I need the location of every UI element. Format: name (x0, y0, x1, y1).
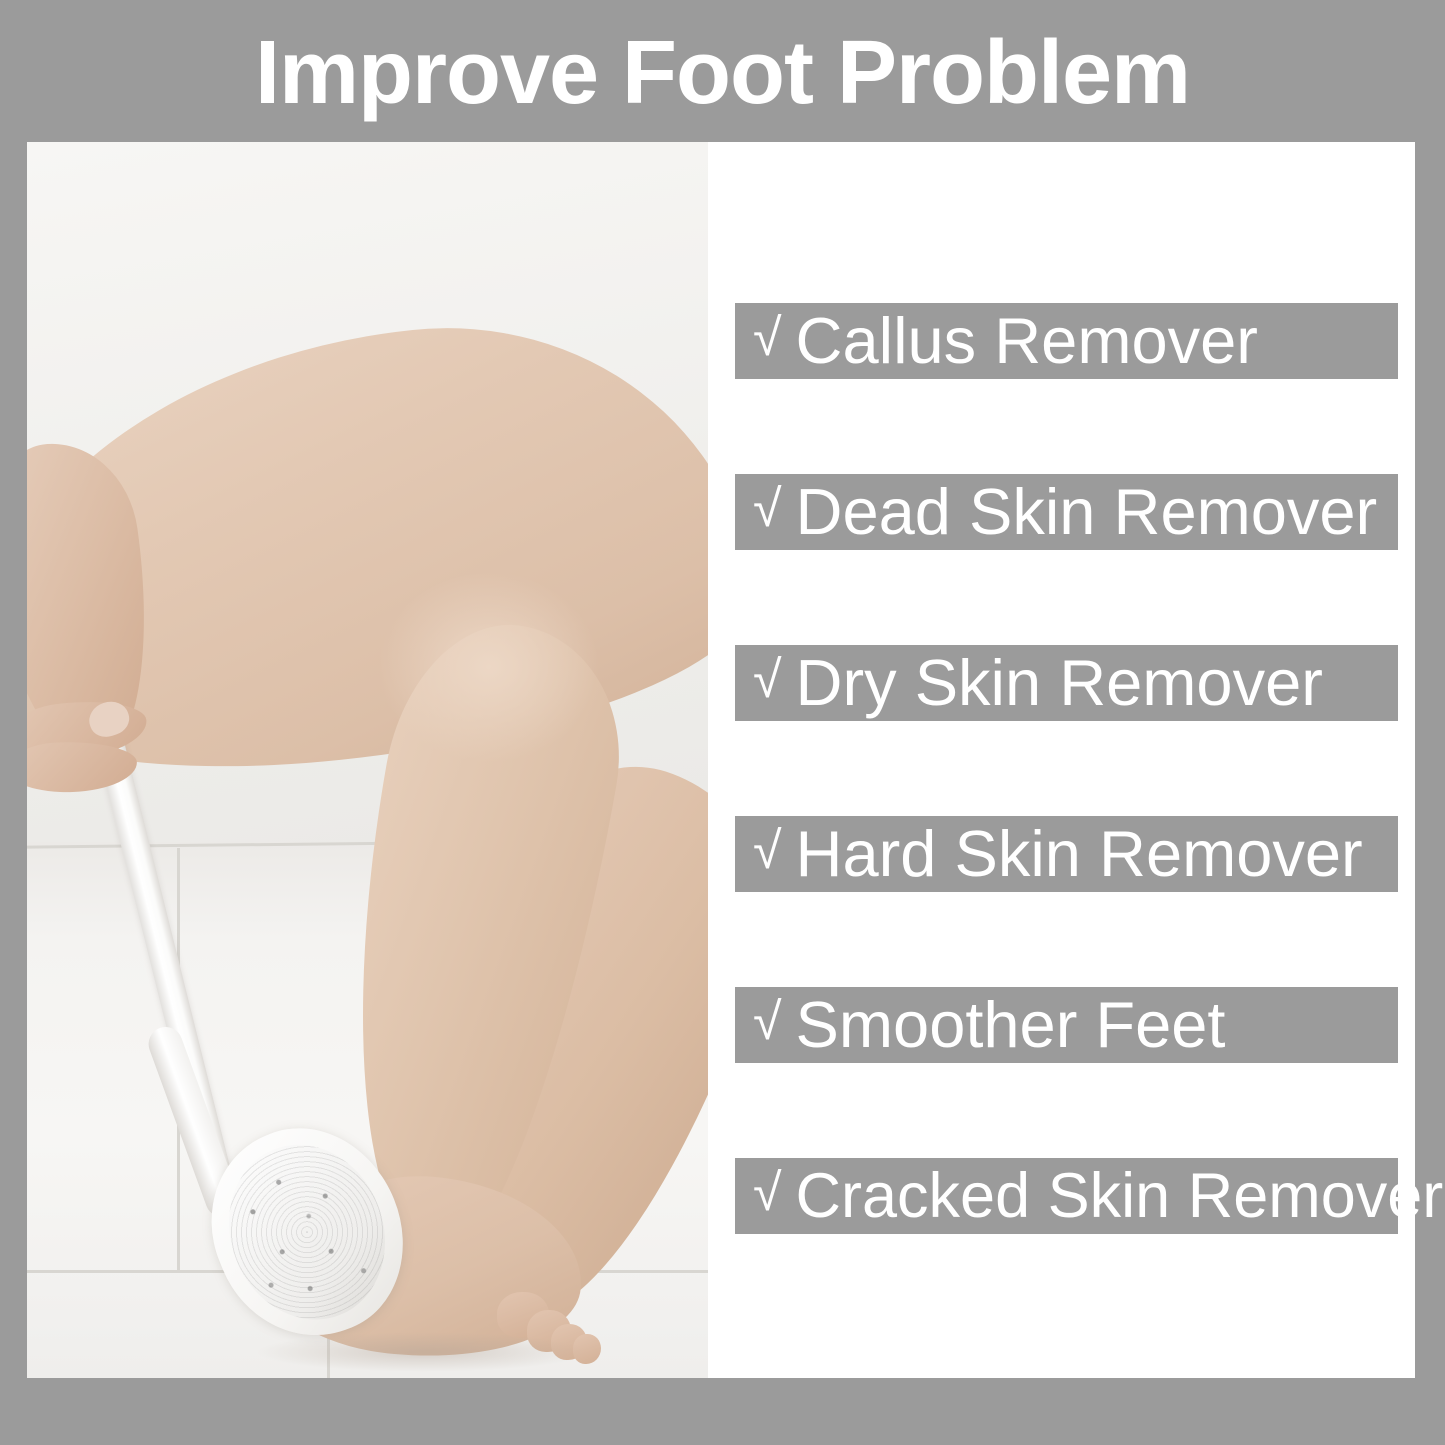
check-icon: √ (753, 1167, 782, 1219)
check-icon: √ (753, 312, 782, 364)
check-icon: √ (753, 483, 782, 535)
product-feature-graphic: Improve Foot Problem (0, 0, 1445, 1445)
feature-label: Smoother Feet (796, 987, 1226, 1063)
check-icon: √ (753, 825, 782, 877)
feature-item-smoother-feet: √ Smoother Feet (735, 987, 1398, 1063)
foot-shadow (257, 1332, 587, 1372)
product-usage-photo (27, 142, 708, 1378)
feature-item-dead-skin-remover: √ Dead Skin Remover (735, 474, 1398, 550)
knee-highlight (379, 572, 599, 762)
feature-item-hard-skin-remover: √ Hard Skin Remover (735, 816, 1398, 892)
feature-label: Dry Skin Remover (796, 645, 1323, 721)
feature-label: Cracked Skin Remover (796, 1158, 1444, 1234)
feature-item-callus-remover: √ Callus Remover (735, 303, 1398, 379)
feature-item-cracked-skin-remover: √ Cracked Skin Remover (735, 1158, 1398, 1234)
content-panel: √ Callus Remover √ Dead Skin Remover √ D… (27, 142, 1415, 1378)
feature-item-dry-skin-remover: √ Dry Skin Remover (735, 645, 1398, 721)
feature-label: Hard Skin Remover (796, 816, 1363, 892)
check-icon: √ (753, 654, 782, 706)
check-icon: √ (753, 996, 782, 1048)
page-title: Improve Foot Problem (0, 18, 1445, 128)
feature-list: √ Callus Remover √ Dead Skin Remover √ D… (708, 142, 1415, 1378)
feature-label: Callus Remover (796, 303, 1258, 379)
feature-label: Dead Skin Remover (796, 474, 1378, 550)
